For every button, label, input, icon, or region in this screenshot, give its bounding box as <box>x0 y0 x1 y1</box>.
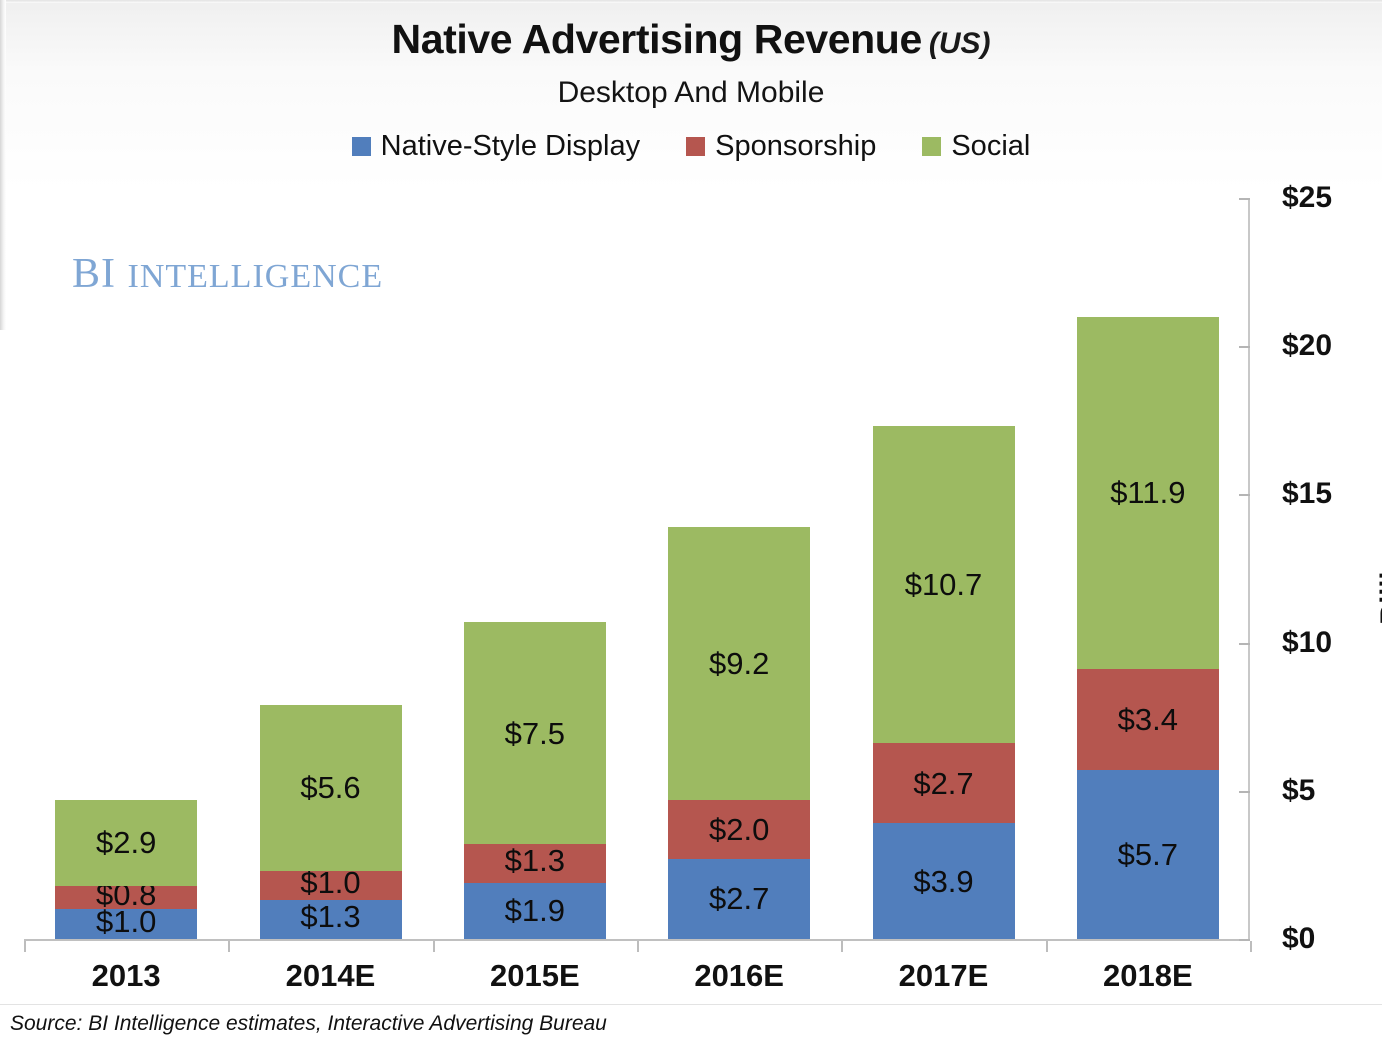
bar-segment[interactable]: $2.7 <box>873 743 1015 823</box>
bar-stack[interactable]: $3.9$2.7$10.7 <box>873 426 1015 939</box>
bar-value-label: $1.9 <box>505 895 565 926</box>
bar-segment[interactable]: $2.7 <box>668 859 810 939</box>
x-axis-tick <box>841 941 843 952</box>
bar-segment[interactable]: $3.4 <box>1077 669 1219 770</box>
legend-swatch-icon <box>922 137 941 156</box>
y-axis-tick <box>1239 791 1250 793</box>
x-axis-label: 2016E <box>639 958 839 994</box>
x-axis-tick <box>1046 941 1048 952</box>
y-axis-tick <box>1239 346 1250 348</box>
bar-value-label: $5.7 <box>1118 839 1178 870</box>
bar-segment[interactable]: $10.7 <box>873 426 1015 743</box>
page-top-edge <box>0 0 1382 3</box>
y-axis-tick-label: $20 <box>1282 329 1332 363</box>
legend-swatch-icon <box>686 137 705 156</box>
legend-swatch-icon <box>352 137 371 156</box>
bar-stack[interactable]: $1.0$0.8$2.9 <box>55 800 197 939</box>
x-axis-tick <box>228 941 230 952</box>
bar-value-label: $10.7 <box>905 569 983 600</box>
source-note: Source: BI Intelligence estimates, Inter… <box>10 1012 607 1036</box>
y-axis-tick-label: $10 <box>1282 626 1332 660</box>
y-axis-tick-label: $25 <box>1282 181 1332 215</box>
x-axis-label: 2013 <box>26 958 226 994</box>
x-axis-tick <box>637 941 639 952</box>
bar-value-label: $1.0 <box>300 867 360 898</box>
bar-value-label: $1.3 <box>505 845 565 876</box>
chart-title-main: Native Advertising Revenue <box>391 16 921 62</box>
bar-stack[interactable]: $2.7$2.0$9.2 <box>668 527 810 939</box>
bar-segment[interactable]: $9.2 <box>668 527 810 800</box>
bar-segment[interactable]: $2.9 <box>55 800 197 886</box>
y-axis-tick-label: $5 <box>1282 774 1315 808</box>
legend-label: Sponsorship <box>715 132 876 161</box>
x-axis-label: 2017E <box>844 958 1044 994</box>
chart-title: Native Advertising Revenue(US) <box>0 16 1382 63</box>
bar-segment[interactable]: $0.8 <box>55 886 197 910</box>
bar-segment[interactable]: $7.5 <box>464 622 606 844</box>
bar-value-label: $1.3 <box>300 901 360 932</box>
legend-item-social[interactable]: Social <box>922 132 1030 161</box>
legend-item-native-style-display[interactable]: Native-Style Display <box>352 132 640 161</box>
legend-label: Social <box>951 132 1030 161</box>
chart-title-suffix: (US) <box>929 27 991 60</box>
chart-legend: Native-Style DisplaySponsorshipSocial <box>0 132 1382 161</box>
bar-segment[interactable]: $1.3 <box>464 844 606 883</box>
y-axis-line <box>1248 200 1250 941</box>
y-axis-tick <box>1239 643 1250 645</box>
bar-stack[interactable]: $1.9$1.3$7.5 <box>464 622 606 939</box>
y-axis-tick <box>1239 494 1250 496</box>
x-axis-label: 2015E <box>435 958 635 994</box>
bar-value-label: $2.9 <box>96 827 156 858</box>
x-axis-tick <box>433 941 435 952</box>
bar-segment[interactable]: $5.6 <box>260 705 402 871</box>
legend-label: Native-Style Display <box>381 132 640 161</box>
bar-segment[interactable]: $1.3 <box>260 900 402 939</box>
bar-value-label: $3.4 <box>1118 704 1178 735</box>
bar-segment[interactable]: $3.9 <box>873 823 1015 939</box>
x-axis-label: 2014E <box>231 958 431 994</box>
y-axis-tick <box>1239 939 1250 941</box>
bar-segment[interactable]: $1.0 <box>55 909 197 939</box>
bar-stack[interactable]: $1.3$1.0$5.6 <box>260 705 402 939</box>
y-axis-tick-label: $15 <box>1282 477 1332 511</box>
legend-item-sponsorship[interactable]: Sponsorship <box>686 132 876 161</box>
bar-value-label: $11.9 <box>1110 477 1185 508</box>
bar-value-label: $9.2 <box>709 648 769 679</box>
bar-segment[interactable]: $2.0 <box>668 800 810 859</box>
plot-area: $0$5$10$15$20$25$1.0$0.8$2.9$1.3$1.0$5.6… <box>24 196 1250 941</box>
bar-value-label: $2.0 <box>709 814 769 845</box>
bar-segment[interactable]: $1.0 <box>260 871 402 901</box>
y-axis-tick <box>1239 198 1250 200</box>
bar-value-label: $2.7 <box>709 883 769 914</box>
bar-value-label: $3.9 <box>913 866 973 897</box>
footer-divider <box>0 1004 1382 1005</box>
y-axis-title: Billions <box>1376 520 1382 625</box>
bar-segment[interactable]: $5.7 <box>1077 770 1219 939</box>
bar-value-label: $5.6 <box>300 772 360 803</box>
bar-stack[interactable]: $5.7$3.4$11.9 <box>1077 317 1219 939</box>
x-axis-tick <box>1250 941 1252 952</box>
chart-root: Native Advertising Revenue(US) Desktop A… <box>0 0 1382 1048</box>
bar-value-label: $2.7 <box>913 768 973 799</box>
x-axis-label: 2018E <box>1048 958 1248 994</box>
chart-subtitle: Desktop And Mobile <box>0 76 1382 110</box>
x-axis-tick <box>24 941 26 952</box>
bar-value-label: $7.5 <box>505 718 565 749</box>
y-axis-tick-label: $0 <box>1282 922 1315 956</box>
bar-segment[interactable]: $11.9 <box>1077 317 1219 670</box>
bar-segment[interactable]: $1.9 <box>464 883 606 939</box>
